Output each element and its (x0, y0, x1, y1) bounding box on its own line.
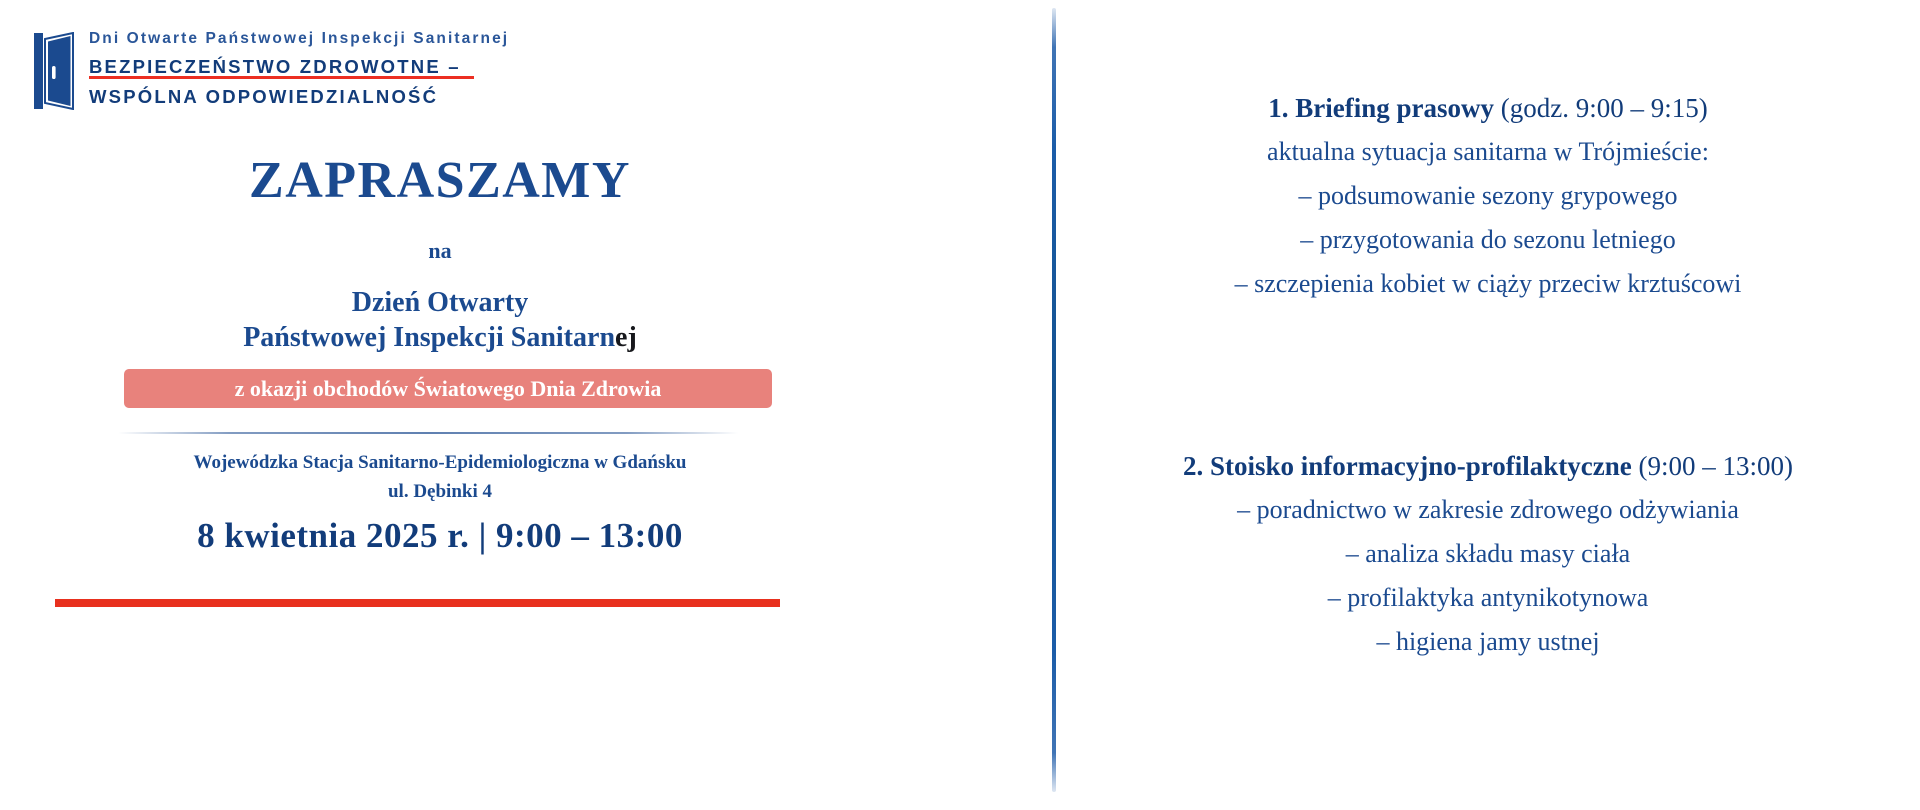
agenda-column: 1. Briefing prasowy (godz. 9:00 – 9:15) … (1056, 0, 1920, 810)
left-column: Dni Otwarte Państwowej Inspekcji Sanitar… (0, 0, 1052, 810)
agenda-item: – podsumowanie sezony grypowego (1056, 174, 1920, 218)
agenda-title-2: 2. Stoisko informacyjno-profilaktyczne (1183, 451, 1632, 481)
occasion-banner-label: z okazji obchodów Światowego Dnia Zdrowi… (235, 378, 662, 400)
invitation-connector: na (0, 240, 880, 262)
event-date-time: 8 kwietnia 2025 r. | 9:00 – 13:00 (0, 518, 880, 553)
logo-headline-primary: BEZPIECZEŃSTWO ZDROWOTNE – (89, 55, 461, 78)
logo-red-underline (89, 76, 474, 79)
agenda-item: – analiza składu masy ciała (1056, 532, 1920, 576)
invitation-subject-line-2: Państwowej Inspekcji Sanitarnej (0, 320, 880, 355)
invitation-subject-line-1: Dzień Otwarty (0, 285, 880, 320)
agenda-time-1: (godz. 9:00 – 9:15) (1501, 93, 1708, 123)
logo-headline-primary-wrap: BEZPIECZEŃSTWO ZDROWOTNE – (89, 55, 461, 78)
agenda-time-2: (9:00 – 13:00) (1638, 451, 1793, 481)
agenda-section-2: 2. Stoisko informacyjno-profilaktyczne (… (1056, 444, 1920, 664)
agenda-item: – przygotowania do sezonu letniego (1056, 218, 1920, 262)
invitation-heading: ZAPRASZAMY (0, 155, 880, 207)
section-divider (118, 432, 738, 434)
venue-address: ul. Dębinki 4 (0, 477, 880, 506)
agenda-title-1: 1. Briefing prasowy (1268, 93, 1494, 123)
invitation-subject-line-2-tail: ej (615, 322, 637, 353)
logo-tagline: Dni Otwarte Państwowej Inspekcji Sanitar… (89, 29, 509, 49)
bottom-red-rule (55, 599, 780, 607)
agenda-heading-2: 2. Stoisko informacyjno-profilaktyczne (… (1056, 444, 1920, 488)
invitation-subject-line-2-main: Państwowej Inspekcji Sanitarn (243, 322, 615, 353)
agenda-lede-1: aktualna sytuacja sanitarna w Trójmieści… (1056, 130, 1920, 174)
agenda-item: – poradnictwo w zakresie zdrowego odżywi… (1056, 488, 1920, 532)
open-door-icon (33, 32, 75, 110)
agenda-item: – szczepienia kobiet w ciąży przeciw krz… (1056, 262, 1920, 306)
venue-name: Wojewódzka Stacja Sanitarno-Epidemiologi… (0, 448, 880, 477)
agenda-section-1: 1. Briefing prasowy (godz. 9:00 – 9:15) … (1056, 86, 1920, 306)
organization-logo: Dni Otwarte Państwowej Inspekcji Sanitar… (33, 28, 509, 110)
occasion-banner: z okazji obchodów Światowego Dnia Zdrowi… (124, 369, 772, 408)
invitation-subject: Dzień Otwarty Państwowej Inspekcji Sanit… (0, 285, 880, 355)
logo-text-block: Dni Otwarte Państwowej Inspekcji Sanitar… (89, 28, 509, 108)
agenda-item: – profilaktyka antynikotynowa (1056, 576, 1920, 620)
logo-headline-secondary: WSPÓLNA ODPOWIEDZIALNOŚĆ (89, 85, 509, 108)
agenda-heading-1: 1. Briefing prasowy (godz. 9:00 – 9:15) (1056, 86, 1920, 130)
agenda-item: – higiena jamy ustnej (1056, 620, 1920, 664)
event-invitation-poster: Dni Otwarte Państwowej Inspekcji Sanitar… (0, 0, 1920, 810)
venue-block: Wojewódzka Stacja Sanitarno-Epidemiologi… (0, 448, 880, 506)
